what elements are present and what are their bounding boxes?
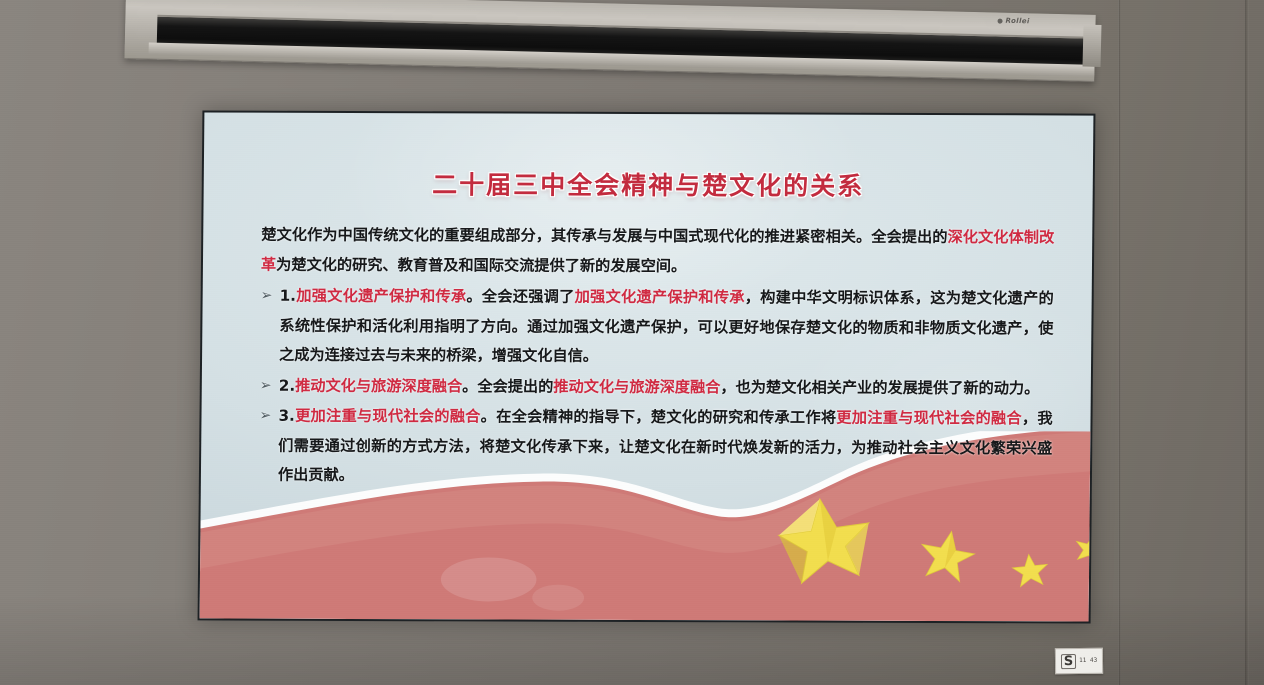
intro-paragraph: 楚文化作为中国传统文化的重要组成部分，其传承与发展与中国式现代化的推进紧密相关。…	[261, 221, 1055, 283]
slide-title: 二十届三中全会精神与楚文化的关系	[204, 164, 1093, 203]
bullet-arrow-icon: ➢	[261, 282, 280, 312]
slide-frame: 二十届三中全会精神与楚文化的关系 楚文化作为中国传统文化的重要组成部分，其传承与…	[198, 110, 1096, 623]
item-rest: ，也为楚文化相关产业的发展提供了新的动力。	[720, 378, 1039, 397]
intro-after: 为楚文化的研究、教育普及和国际交流提供了新的发展空间。	[276, 255, 686, 274]
intro-before: 楚文化作为中国传统文化的重要组成部分，其传承与发展与中国式现代化的推进紧密相关。…	[261, 226, 947, 246]
item-number: 3.	[278, 407, 295, 425]
photo-of-projected-slide: Rollei S 11 43	[0, 0, 1264, 685]
item-lead-highlight: 推动文化与旅游深度融合	[295, 376, 462, 395]
brand-dot-icon	[997, 19, 1002, 24]
wall-sticker-label: S 11 43	[1055, 648, 1103, 675]
item-lead-highlight: 加强文化遗产保护和传承	[296, 287, 467, 306]
projected-slide: 二十届三中全会精神与楚文化的关系 楚文化作为中国传统文化的重要组成部分，其传承与…	[198, 110, 1096, 623]
list-item: ➢ 2.推动文化与旅游深度融合。全会提出的推动文化与旅游深度融合，也为楚文化相关…	[260, 371, 1053, 403]
slide-canvas: 二十届三中全会精神与楚文化的关系 楚文化作为中国传统文化的重要组成部分，其传承与…	[200, 112, 1094, 621]
item-lead-highlight: 更加注重与现代社会的融合	[295, 407, 481, 426]
item-mid-highlight: 推动文化与旅游深度融合	[553, 377, 720, 396]
light-blotch-2	[532, 585, 584, 611]
bullet-arrow-icon: ➢	[259, 402, 278, 432]
valance-brand-label: Rollei	[1005, 17, 1029, 26]
slide-body: 楚文化作为中国传统文化的重要组成部分，其传承与发展与中国式现代化的推进紧密相关。…	[259, 221, 1055, 494]
bullet-arrow-icon: ➢	[260, 371, 279, 401]
valance-endcap	[1083, 25, 1102, 67]
item-mid-before: 。全会还强调了	[466, 287, 574, 305]
sticker-s-icon: S	[1061, 654, 1077, 669]
list-item-text: 2.推动文化与旅游深度融合。全会提出的推动文化与旅游深度融合，也为楚文化相关产业…	[279, 371, 1053, 403]
item-mid-before: 。全会提出的	[462, 377, 553, 395]
item-number: 1.	[280, 287, 297, 305]
sticker-number: 11 43	[1079, 658, 1097, 664]
item-number: 2.	[279, 376, 296, 394]
item-mid-highlight: 加强文化遗产保护和传承	[575, 288, 745, 307]
wall-seam-right	[1118, 0, 1121, 685]
list-item: ➢ 1.加强文化遗产保护和传承。全会还强调了加强文化遗产保护和传承，构建中华文明…	[260, 282, 1054, 373]
light-blotch-1	[441, 557, 537, 601]
wall-seam-far-right	[1245, 0, 1249, 685]
item-mid-highlight: 更加注重与现代社会的融合	[836, 409, 1022, 428]
list-item-text: 1.加强文化遗产保护和传承。全会还强调了加强文化遗产保护和传承，构建中华文明标识…	[279, 282, 1054, 373]
list-item: ➢ 3.更加注重与现代社会的融合。在全会精神的指导下，楚文化的研究和传承工作将更…	[259, 402, 1053, 493]
list-item-text: 3.更加注重与现代社会的融合。在全会精神的指导下，楚文化的研究和传承工作将更加注…	[278, 402, 1053, 493]
item-mid-before: 。在全会精神的指导下，楚文化的研究和传承工作将	[481, 407, 837, 426]
